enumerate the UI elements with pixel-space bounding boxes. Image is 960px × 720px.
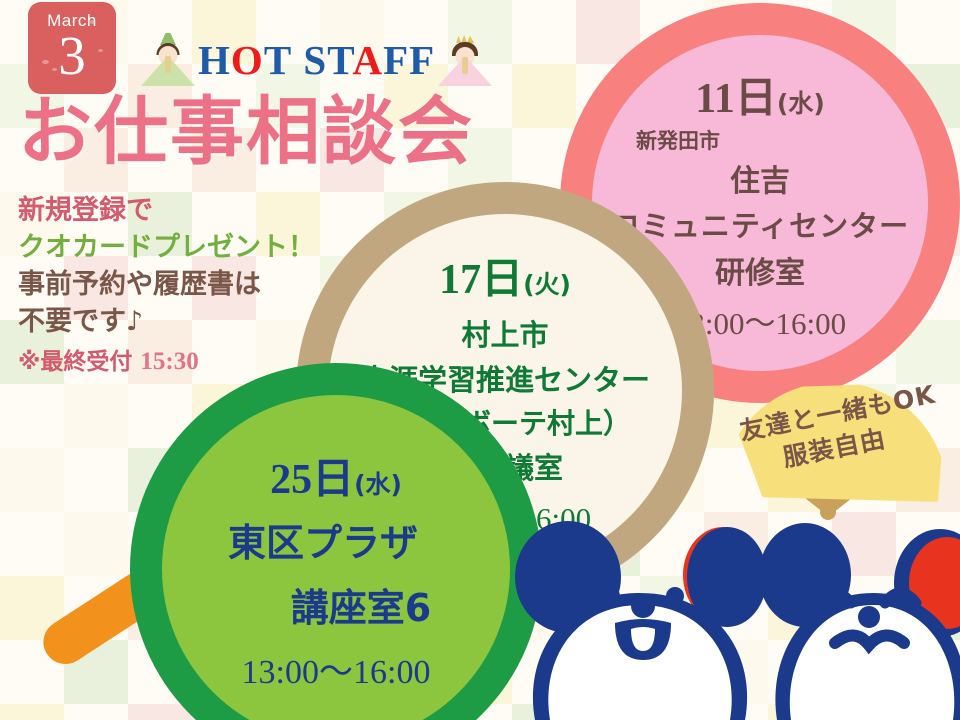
mascot-svg — [505, 505, 960, 720]
info-line-4: 不要です♪ — [18, 303, 315, 340]
background-tile — [512, 0, 576, 64]
event-11-venue-line-2: コミュニティセンター — [611, 203, 909, 245]
event-25-date-row: 25日(水) — [270, 445, 402, 506]
event-11-date-row: 11日(水) — [695, 64, 825, 125]
event-11-venue-line-3: 研修室 — [715, 248, 805, 292]
event-17-date-row: 17日(火) — [439, 245, 571, 306]
event-11-city: 新発田市 — [636, 125, 720, 155]
brand-logo: HOT STAFF — [140, 30, 493, 90]
event-25-venue-line-2: 講座室6 — [291, 577, 431, 632]
event-25-day: 25日 — [270, 457, 354, 503]
event-11-day: 11日 — [695, 76, 777, 122]
mascot-right-icon — [759, 523, 960, 720]
hina-doll-male-icon — [140, 32, 196, 88]
poster-canvas: 11日(水) 新発田市 住吉 コミュニティセンター 研修室 13:00〜16:0… — [0, 0, 960, 720]
month-badge: March 3 — [28, 2, 116, 94]
month-number: 3 — [58, 33, 86, 79]
background-tile — [0, 384, 64, 448]
background-tile — [64, 384, 128, 448]
background-tile — [0, 448, 64, 512]
page-title: お仕事相談会 — [18, 92, 474, 172]
background-tile — [64, 512, 128, 576]
hina-doll-female-icon — [437, 32, 493, 88]
background-tile — [0, 704, 64, 720]
mascot-left-icon — [515, 521, 767, 720]
info-block: 新規登録で クオカードプレゼント！ 事前予約や履歴書は 不要です♪ ※最終受付 … — [18, 192, 315, 381]
info-line-3: 事前予約や履歴書は — [18, 266, 315, 303]
event-25-weekday: (水) — [354, 470, 402, 499]
event-circle-25-inner: 25日(水) 東区プラザ 講座室6 13:00〜16:00 — [162, 395, 510, 720]
info-note: ※最終受付 15:30 — [18, 343, 315, 381]
logo-text: HOT STAFF — [198, 40, 435, 81]
info-line-1: 新規登録で — [18, 192, 315, 229]
badge-speck — [42, 60, 49, 64]
event-17-city: 村上市 — [461, 312, 548, 354]
badge-speck — [52, 68, 57, 71]
event-17-day: 17日 — [439, 257, 523, 303]
background-tile — [0, 512, 64, 576]
background-tile — [896, 0, 960, 64]
event-11-venue-line-1: 住吉 — [730, 156, 790, 200]
event-17-weekday: (火) — [523, 270, 571, 299]
info-note-prefix: ※最終受付 — [18, 349, 132, 375]
badge-speck — [90, 20, 94, 24]
background-tile — [64, 448, 128, 512]
background-tile — [512, 64, 576, 128]
background-tile — [64, 704, 128, 720]
info-line-2: クオカードプレゼント！ — [18, 229, 315, 266]
badge-speck — [98, 49, 103, 52]
event-11-weekday: (水) — [777, 89, 825, 118]
info-note-time: 15:30 — [140, 348, 198, 375]
mascot-pair — [505, 505, 960, 720]
event-25-venue-line-1: 東区プラザ — [228, 512, 418, 567]
event-25-time: 13:00〜16:00 — [242, 644, 431, 693]
